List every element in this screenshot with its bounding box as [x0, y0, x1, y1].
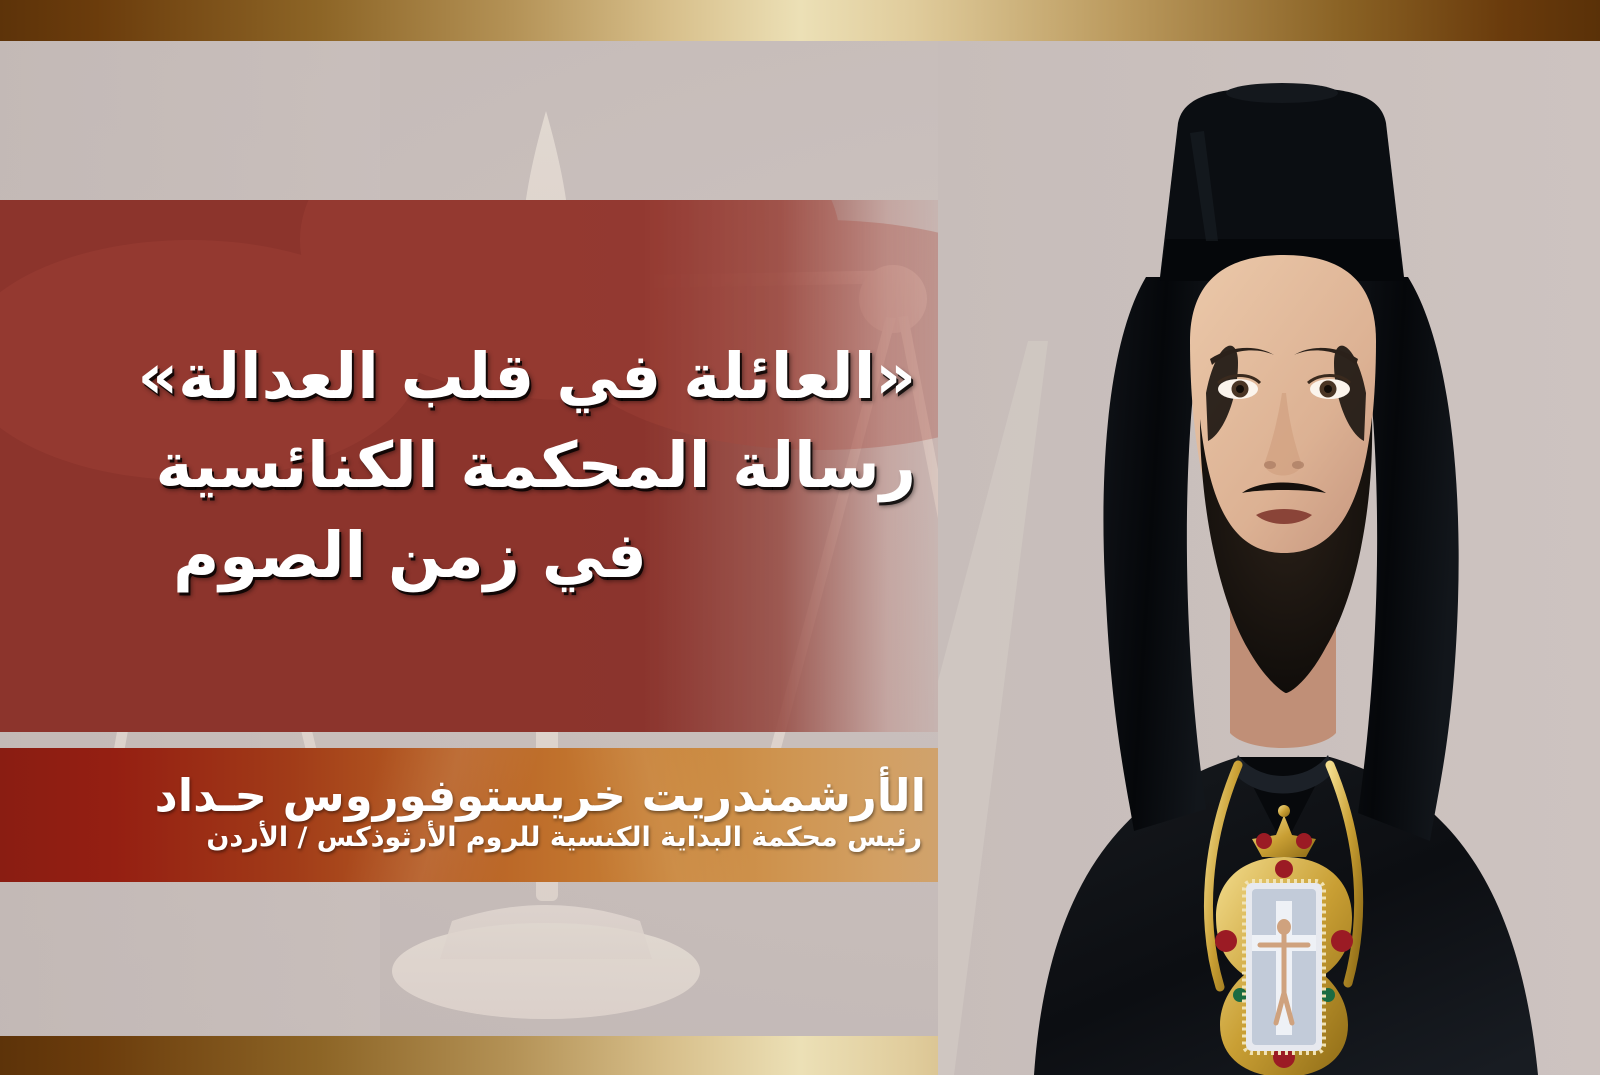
speaker-name: الأرشمندريت خريستوفوروس حـداد: [0, 771, 962, 821]
speaker-banner: الأرشمندريت خريستوفوروس حـداد رئيس محكمة…: [0, 748, 962, 882]
title-line-2: رسالة المحكمة الكنائسية: [60, 421, 920, 510]
speaker-role: رئيس محكمة البداية الكنسية للروم الأرثوذ…: [0, 821, 962, 855]
priest-portrait-image: [938, 41, 1600, 1075]
title-line-3: في زمن الصوم: [60, 511, 920, 600]
poster-canvas: «العائلة في قلب العدالة» رسالة المحكمة ا…: [0, 0, 1600, 1075]
speaker-text-block: الأرشمندريت خريستوفوروس حـداد رئيس محكمة…: [0, 748, 962, 882]
title-line-1: «العائلة في قلب العدالة»: [60, 332, 920, 421]
title-text-block: «العائلة في قلب العدالة» رسالة المحكمة ا…: [0, 200, 975, 732]
top-gold-bar: [0, 0, 1600, 41]
